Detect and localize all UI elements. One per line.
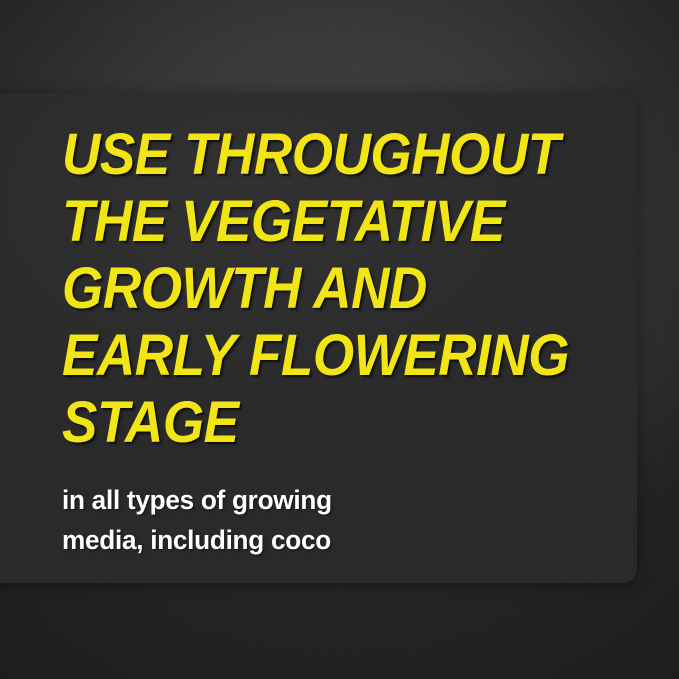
headline: USE THROUGHOUT THE VEGETATIVE GROWTH AND… [62, 121, 575, 456]
promo-banner: USE THROUGHOUT THE VEGETATIVE GROWTH AND… [0, 0, 679, 679]
copy-block: USE THROUGHOUT THE VEGETATIVE GROWTH AND… [62, 121, 623, 560]
subtitle: in all types of growing media, including… [62, 456, 606, 560]
content-card: USE THROUGHOUT THE VEGETATIVE GROWTH AND… [0, 93, 637, 583]
